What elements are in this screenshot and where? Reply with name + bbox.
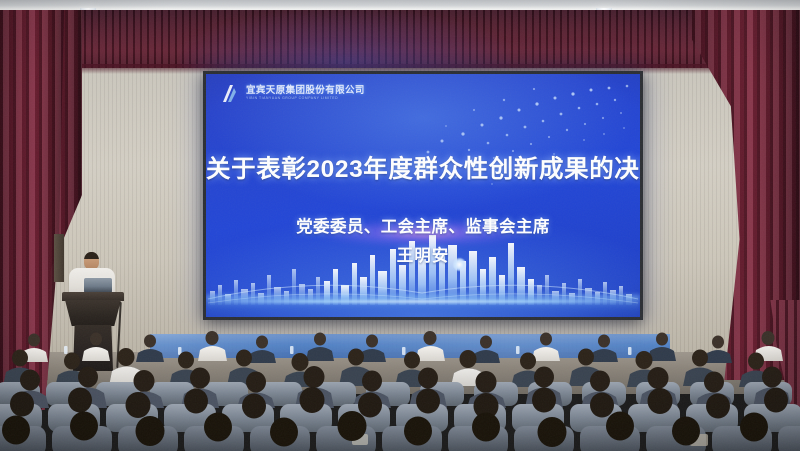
slide-speaker-name: 王明安 — [206, 242, 640, 266]
screen-vignette — [206, 74, 640, 317]
lectern-body — [65, 300, 121, 326]
led-screen-surface: 宜宾天原集团股份有限公司 YIBIN TIANYUAN GROUP COMPAN… — [206, 74, 640, 317]
skyline-ground-glow — [206, 295, 640, 317]
presenter-laptop — [84, 278, 112, 293]
lectern-top — [62, 292, 124, 301]
slide-speaker-role: 党委委员、工会主席、监事会主席 — [206, 213, 640, 237]
slide-logo: 宜宾天原集团股份有限公司 YIBIN TIANYUAN GROUP COMPAN… — [220, 83, 365, 104]
conference-hall-photo: 宜宾天原集团股份有限公司 YIBIN TIANYUAN GROUP COMPAN… — [0, 0, 800, 451]
skyline-svg — [206, 225, 640, 317]
seated-audience — [0, 330, 800, 451]
skyline-horizon-glow — [206, 300, 640, 303]
led-presentation-screen: 宜宾天原集团股份有限公司 YIBIN TIANYUAN GROUP COMPAN… — [203, 71, 643, 320]
stage-side-door — [54, 234, 64, 282]
slide-city-skyline-graphic — [206, 225, 640, 317]
company-logo-mark-icon — [220, 83, 241, 104]
logo-chinese-name: 宜宾天原集团股份有限公司 — [246, 86, 365, 96]
valance-blue-light-cast — [180, 10, 510, 68]
audience-svg — [0, 330, 800, 451]
logo-english-name: YIBIN TIANYUAN GROUP COMPANY LIMITED — [246, 97, 365, 100]
slide-title: 关于表彰2023年度群众性创新成果的决定 — [206, 150, 640, 185]
